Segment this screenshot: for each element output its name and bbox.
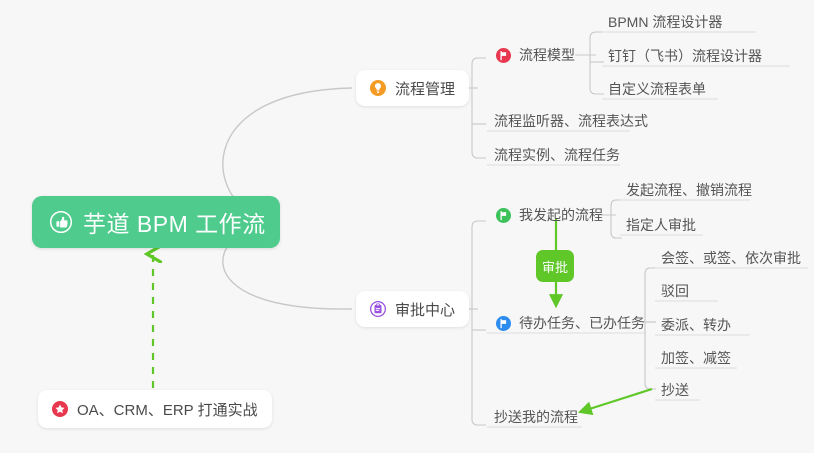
leaf-cc-to-me[interactable]: 抄送我的流程 bbox=[488, 404, 584, 430]
lightbulb-icon bbox=[370, 80, 386, 96]
leaf-custom-process-form-label: 自定义流程表单 bbox=[608, 79, 706, 99]
card-oa-crm-erp-label: OA、CRM、ERP 打通实战 bbox=[77, 399, 258, 420]
mindmap-canvas: 芋道 BPM 工作流 流程管理 流程模型 BPMN 流程设计器 钉钉（飞书）流程 bbox=[0, 0, 814, 453]
branch-liucheng-guanli[interactable]: 流程管理 bbox=[356, 70, 469, 106]
sub-liucheng-moxing-label: 流程模型 bbox=[519, 45, 575, 65]
flag-icon bbox=[496, 48, 511, 63]
leaf-cc[interactable]: 抄送 bbox=[655, 377, 695, 403]
leaf-listener-expression-label: 流程监听器、流程表达式 bbox=[494, 111, 648, 131]
clipboard-icon bbox=[370, 301, 386, 317]
branch-shenpi-zhongxin[interactable]: 审批中心 bbox=[356, 291, 469, 327]
branch-liucheng-guanli-label: 流程管理 bbox=[395, 78, 455, 99]
leaf-delegate-transfer[interactable]: 委派、转办 bbox=[655, 312, 737, 338]
leaf-custom-process-form[interactable]: 自定义流程表单 bbox=[602, 76, 712, 102]
leaf-start-cancel-process[interactable]: 发起流程、撤销流程 bbox=[620, 177, 758, 203]
leaf-reject-label: 驳回 bbox=[661, 281, 689, 301]
leaf-dingtalk-feishu-designer[interactable]: 钉钉（飞书）流程设计器 bbox=[602, 43, 768, 69]
leaf-assignee-approve[interactable]: 指定人审批 bbox=[620, 212, 702, 238]
branch-shenpi-zhongxin-label: 审批中心 bbox=[395, 299, 455, 320]
root-label: 芋道 BPM 工作流 bbox=[83, 205, 266, 239]
leaf-instance-task[interactable]: 流程实例、流程任务 bbox=[488, 142, 626, 168]
leaf-cc-label: 抄送 bbox=[661, 380, 689, 400]
leaf-add-remove-sign-label: 加签、减签 bbox=[661, 348, 731, 368]
flag-icon bbox=[496, 316, 511, 331]
sub-my-started-process[interactable]: 我发起的流程 bbox=[494, 202, 609, 228]
leaf-bpmn-designer-label: BPMN 流程设计器 bbox=[608, 12, 722, 32]
leaf-instance-task-label: 流程实例、流程任务 bbox=[494, 145, 620, 165]
bracket-liucheng-guanli bbox=[472, 58, 486, 158]
card-oa-crm-erp[interactable]: OA、CRM、ERP 打通实战 bbox=[38, 390, 272, 428]
sub-todo-done-task[interactable]: 待办任务、已办任务 bbox=[494, 310, 651, 336]
star-icon bbox=[52, 401, 68, 417]
leaf-assignee-approve-label: 指定人审批 bbox=[626, 215, 696, 235]
leaf-delegate-transfer-label: 委派、转办 bbox=[661, 315, 731, 335]
flag-icon bbox=[496, 208, 511, 223]
leaf-countersign-or-sequential-label: 会签、或签、依次审批 bbox=[661, 248, 801, 268]
leaf-cc-to-me-label: 抄送我的流程 bbox=[494, 407, 578, 427]
approve-tag[interactable]: 审批 bbox=[536, 250, 574, 282]
leaf-reject[interactable]: 驳回 bbox=[655, 278, 695, 304]
leaf-bpmn-designer[interactable]: BPMN 流程设计器 bbox=[602, 9, 728, 35]
approve-tag-label: 审批 bbox=[542, 257, 568, 276]
root-node[interactable]: 芋道 BPM 工作流 bbox=[32, 196, 280, 248]
sub-todo-done-task-label: 待办任务、已办任务 bbox=[519, 313, 645, 333]
leaf-start-cancel-process-label: 发起流程、撤销流程 bbox=[626, 180, 752, 200]
thumbs-up-icon bbox=[50, 211, 72, 233]
bracket-shenpi-zhongxin bbox=[472, 221, 486, 425]
sub-liucheng-moxing[interactable]: 流程模型 bbox=[494, 42, 581, 68]
leaf-dingtalk-feishu-designer-label: 钉钉（飞书）流程设计器 bbox=[608, 46, 762, 66]
sub-my-started-process-label: 我发起的流程 bbox=[519, 205, 603, 225]
leaf-countersign-or-sequential[interactable]: 会签、或签、依次审批 bbox=[655, 245, 807, 271]
cc-arrow bbox=[580, 389, 652, 412]
leaf-add-remove-sign[interactable]: 加签、减签 bbox=[655, 345, 737, 371]
leaf-listener-expression[interactable]: 流程监听器、流程表达式 bbox=[488, 108, 654, 134]
